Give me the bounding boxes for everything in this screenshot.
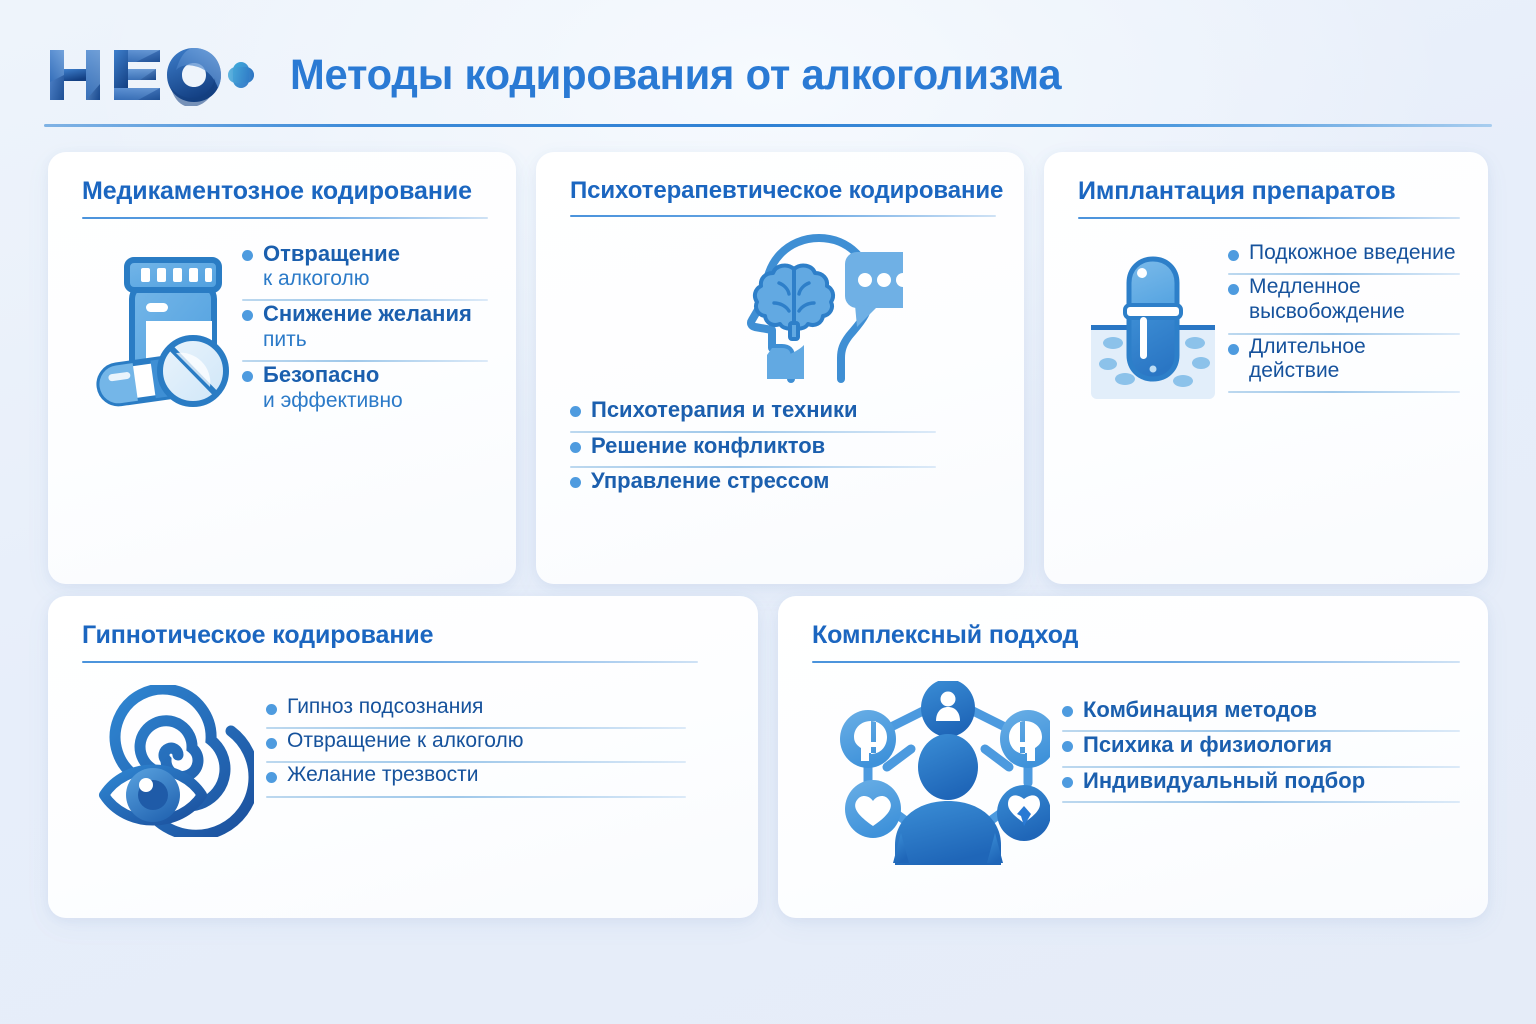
- bullet-dot-icon: [266, 738, 277, 749]
- card-row-top: Медикаментозное кодирование: [48, 152, 1488, 584]
- list-item: Желание трезвости: [266, 763, 686, 795]
- bullet-list-implantation: Подкожное введение Медленное высвобожден…: [1228, 241, 1460, 394]
- bullet-main: Безопасно: [263, 362, 403, 388]
- bullet-list-complex-approach: Комбинация методов Психика и физиология …: [1062, 679, 1460, 804]
- hypnosis-eye-spiral-icon-wrap: [82, 681, 266, 837]
- list-item: Психотерапия и техники: [570, 397, 996, 431]
- card-title-complex-approach: Комплексный подход: [812, 622, 1460, 650]
- neo-plus-logo: [44, 44, 256, 106]
- bullet-main: Подкожное введение: [1249, 241, 1456, 265]
- card-title-implantation: Имплантация препаратов: [1078, 178, 1460, 206]
- head-brain-speech-icon-wrap: [663, 231, 903, 383]
- bullet-dot-icon: [1062, 706, 1073, 717]
- bullet-dot-icon: [1062, 741, 1073, 752]
- bullet-sub: к алкоголю: [263, 267, 400, 291]
- bullet-separator: [1228, 391, 1460, 393]
- bullet-main: Индивидуальный подбор: [1083, 768, 1365, 794]
- card-title-underline: [1078, 217, 1460, 219]
- bullet-separator: [266, 796, 686, 798]
- bullet-dot-icon: [570, 442, 581, 453]
- head-brain-speech-icon: [663, 231, 903, 383]
- list-item: Отвращение к алкоголю: [242, 241, 488, 300]
- bullet-main: Отвращение к алкоголю: [287, 729, 524, 753]
- list-item: Комбинация методов: [1062, 697, 1460, 731]
- card-title-underline: [570, 215, 996, 217]
- bullet-dot-icon: [242, 371, 253, 382]
- card-complex-approach: Комплексный подход: [778, 596, 1488, 918]
- list-item: Управление стрессом: [570, 468, 996, 502]
- card-row-bottom: Гипнотическое кодирование: [48, 596, 1488, 918]
- bullet-dot-icon: [570, 406, 581, 417]
- card-title-underline: [82, 217, 488, 219]
- bullet-main: Решение конфликтов: [591, 433, 825, 459]
- bullet-main: Медленное: [1249, 275, 1405, 299]
- list-item: Решение конфликтов: [570, 433, 996, 467]
- card-title-psychotherapy: Психотерапевтическое кодирование: [570, 178, 996, 204]
- list-item: Безопасно и эффективно: [242, 362, 488, 421]
- list-item: Подкожное введение: [1228, 241, 1460, 273]
- person-network-icon: [825, 681, 1050, 866]
- list-item: Снижение желания пить: [242, 301, 488, 360]
- capsule-implant-icon-wrap: [1078, 241, 1228, 411]
- card-title-hypnosis: Гипнотическое кодирование: [82, 622, 730, 650]
- list-item: Психика и физиология: [1062, 732, 1460, 766]
- list-item: Индивидуальный подбор: [1062, 768, 1460, 802]
- bullet-main: Психотерапия и техники: [591, 397, 858, 423]
- card-title-underline: [812, 661, 1460, 663]
- page-header: Методы кодирования от алкоголизма: [44, 26, 1492, 124]
- card-hypnosis: Гипнотическое кодирование: [48, 596, 758, 918]
- bullet-dot-icon: [1228, 250, 1239, 261]
- bullet-dot-icon: [570, 477, 581, 488]
- pill-bottle-icon: [87, 249, 237, 414]
- bullet-sub: пить: [263, 328, 472, 352]
- card-psychotherapy: Психотерапевтическое кодирование: [536, 152, 1024, 584]
- bullet-main: Отвращение: [263, 241, 400, 267]
- bullet-list-hypnosis: Гипноз подсознания Отвращение к алкоголю…: [266, 681, 686, 798]
- bullet-dot-icon: [1062, 777, 1073, 788]
- bullet-dot-icon: [242, 310, 253, 321]
- bullet-main: Комбинация методов: [1083, 697, 1317, 723]
- page-title: Методы кодирования от алкоголизма: [290, 54, 1061, 97]
- bullet-separator: [1062, 801, 1460, 803]
- bullet-main: Психика и физиология: [1083, 732, 1332, 758]
- bullet-main: Гипноз подсознания: [287, 695, 483, 719]
- card-medication: Медикаментозное кодирование: [48, 152, 516, 584]
- bullet-dot-icon: [266, 772, 277, 783]
- bullet-dot-icon: [1228, 284, 1239, 295]
- bullet-dot-icon: [266, 704, 277, 715]
- pill-bottle-icon-wrap: [82, 241, 242, 414]
- list-item: Отвращение к алкоголю: [266, 729, 686, 761]
- hypnosis-eye-spiral-icon: [94, 685, 254, 837]
- bullet-main: Управление стрессом: [591, 468, 829, 494]
- bullet-dot-icon: [1228, 344, 1239, 355]
- bullet-sub: высвобождение: [1249, 300, 1405, 324]
- card-implantation: Имплантация препаратов: [1044, 152, 1488, 584]
- card-title-underline: [82, 661, 698, 663]
- bullet-main: Длительное действие: [1249, 335, 1460, 384]
- bullet-main: Снижение желания: [263, 301, 472, 327]
- bullet-dot-icon: [242, 250, 253, 261]
- list-item: Медленное высвобождение: [1228, 275, 1460, 333]
- capsule-implant-icon: [1083, 251, 1223, 411]
- bullet-list-psychotherapy: Психотерапия и техники Решение конфликто…: [570, 397, 996, 502]
- bullet-sub: и эффективно: [263, 389, 403, 413]
- list-item: Гипноз подсознания: [266, 695, 686, 727]
- list-item: Длительное действие: [1228, 335, 1460, 392]
- card-title-medication: Медикаментозное кодирование: [82, 178, 488, 206]
- person-network-icon-wrap: [812, 679, 1062, 866]
- bullet-list-medication: Отвращение к алкоголю Снижение желания п…: [242, 241, 488, 422]
- header-divider: [44, 124, 1492, 127]
- bullet-main: Желание трезвости: [287, 763, 478, 787]
